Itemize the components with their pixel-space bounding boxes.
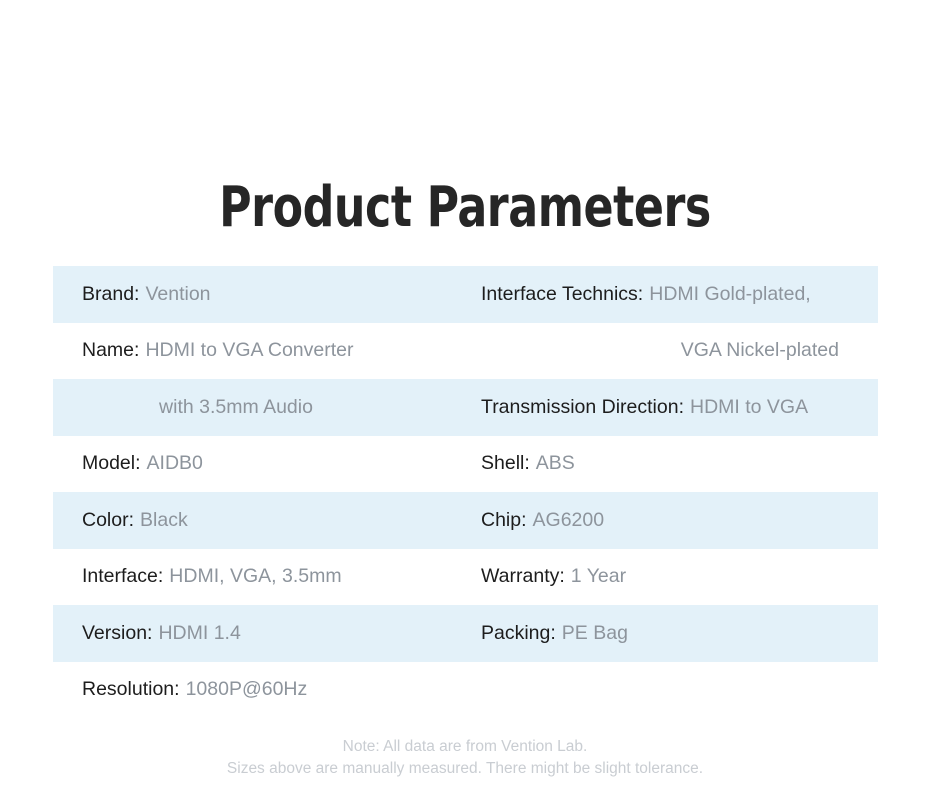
product-parameters-page: Product Parameters Brand:VentionInterfac…: [0, 0, 930, 800]
spec-label: Name:: [82, 339, 139, 362]
spec-cell-left: Interface:HDMI, VGA, 3.5mm: [53, 549, 467, 606]
spec-label: Chip:: [481, 509, 527, 532]
spec-cell-right: Chip:AG6200: [467, 492, 878, 549]
spec-label: Model:: [82, 452, 141, 475]
spec-row: Model:AIDB0Shell:ABS: [53, 436, 878, 493]
spec-value: AIDB0: [147, 452, 203, 475]
spec-label: Shell:: [481, 452, 530, 475]
spec-value: AG6200: [533, 509, 605, 532]
spec-cell-right: Shell:ABS: [467, 436, 878, 493]
spec-cell-right: VGA Nickel-plated: [467, 323, 878, 380]
footer-note-line-2: Sizes above are manually measured. There…: [0, 758, 930, 780]
spec-label: Resolution:: [82, 678, 180, 701]
spec-row: Interface:HDMI, VGA, 3.5mmWarranty:1 Yea…: [53, 549, 878, 606]
spec-value: VGA Nickel-plated: [681, 339, 839, 362]
spec-label: Interface:: [82, 565, 163, 588]
spec-row: Resolution:1080P@60Hz: [53, 662, 878, 719]
spec-value: Vention: [145, 283, 210, 306]
spec-cell-left: Resolution:1080P@60Hz: [53, 662, 467, 719]
spec-cell-right: [467, 662, 878, 719]
spec-row: Brand:VentionInterface Technics:HDMI Gol…: [53, 266, 878, 323]
spec-value: HDMI to VGA: [690, 396, 808, 419]
spec-value: Black: [140, 509, 188, 532]
spec-value: with 3.5mm Audio: [159, 396, 313, 419]
spec-label: Version:: [82, 622, 152, 645]
spec-cell-left: with 3.5mm Audio: [53, 379, 467, 436]
spec-value: HDMI to VGA Converter: [145, 339, 353, 362]
spec-value: HDMI, VGA, 3.5mm: [169, 565, 341, 588]
spec-value: HDMI 1.4: [158, 622, 240, 645]
page-title: Product Parameters: [56, 177, 874, 239]
spec-cell-left: Model:AIDB0: [53, 436, 467, 493]
spec-row: Version:HDMI 1.4Packing:PE Bag: [53, 605, 878, 662]
spec-table: Brand:VentionInterface Technics:HDMI Gol…: [53, 266, 878, 718]
spec-label: Interface Technics:: [481, 283, 643, 306]
spec-cell-right: Warranty:1 Year: [467, 549, 878, 606]
spec-value: ABS: [536, 452, 575, 475]
footer-note-line-1: Note: All data are from Vention Lab.: [0, 736, 930, 758]
spec-row: Color:BlackChip:AG6200: [53, 492, 878, 549]
spec-value: PE Bag: [562, 622, 628, 645]
spec-label: Transmission Direction:: [481, 396, 684, 419]
spec-cell-right: Interface Technics:HDMI Gold-plated,: [467, 266, 878, 323]
spec-cell-right: Transmission Direction:HDMI to VGA: [467, 379, 878, 436]
spec-value: HDMI Gold-plated,: [649, 283, 810, 306]
spec-cell-left: Version:HDMI 1.4: [53, 605, 467, 662]
spec-label: Color:: [82, 509, 134, 532]
spec-label: Packing:: [481, 622, 556, 645]
spec-cell-right: Packing:PE Bag: [467, 605, 878, 662]
spec-label: Brand:: [82, 283, 139, 306]
spec-row: Name:HDMI to VGA ConverterVGA Nickel-pla…: [53, 323, 878, 380]
spec-row: with 3.5mm AudioTransmission Direction:H…: [53, 379, 878, 436]
spec-label: Warranty:: [481, 565, 565, 588]
spec-value: 1 Year: [571, 565, 626, 588]
spec-cell-left: Color:Black: [53, 492, 467, 549]
footer-note: Note: All data are from Vention Lab. Siz…: [0, 736, 930, 780]
spec-value: 1080P@60Hz: [186, 678, 308, 701]
spec-cell-left: Brand:Vention: [53, 266, 467, 323]
spec-cell-left: Name:HDMI to VGA Converter: [53, 323, 467, 380]
